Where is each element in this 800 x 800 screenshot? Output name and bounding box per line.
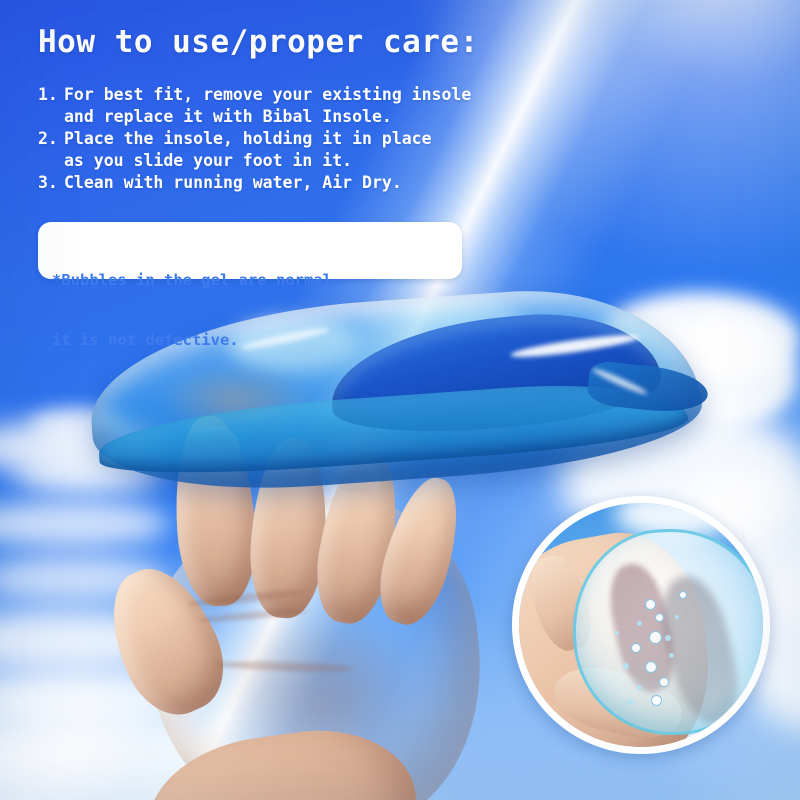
step-number: 3. bbox=[38, 172, 64, 194]
gel-bubble bbox=[655, 613, 664, 622]
gel-bubble bbox=[627, 699, 633, 705]
gel-bubble bbox=[637, 621, 642, 626]
instruction-list: 1. For best fit, remove your existing in… bbox=[38, 84, 678, 194]
bubble-detail-inset bbox=[512, 496, 770, 754]
gel-bubble bbox=[645, 599, 656, 610]
gel-bubble bbox=[679, 591, 687, 599]
step-line: and replace it with Bibal Insole. bbox=[64, 106, 678, 128]
gel-bubble bbox=[615, 631, 619, 635]
gel-bubble bbox=[649, 631, 662, 644]
list-item: 2. Place the insole, holding it in place… bbox=[38, 128, 678, 172]
infographic-canvas: How to use/proper care: 1. For best fit,… bbox=[0, 0, 800, 800]
gel-bubble bbox=[669, 653, 674, 658]
step-number: 2. bbox=[38, 128, 64, 172]
step-line: Clean with running water, Air Dry. bbox=[64, 172, 678, 194]
callout-line-2: it is not defective. bbox=[52, 330, 341, 350]
step-line: For best fit, remove your existing insol… bbox=[64, 84, 678, 106]
step-line: as you slide your foot in it. bbox=[64, 150, 678, 172]
page-title: How to use/proper care: bbox=[38, 24, 479, 60]
list-item: 1. For best fit, remove your existing in… bbox=[38, 84, 678, 128]
gel-bubble bbox=[659, 677, 669, 687]
gel-bubble bbox=[651, 695, 662, 706]
list-item: 3. Clean with running water, Air Dry. bbox=[38, 172, 678, 194]
gel-bubble bbox=[623, 663, 629, 669]
callout-text: *Bubbles in the gel are normal, it is no… bbox=[52, 230, 341, 390]
callout-line-1: *Bubbles in the gel are normal, bbox=[52, 270, 341, 290]
step-text: For best fit, remove your existing insol… bbox=[64, 84, 678, 128]
step-text: Place the insole, holding it in place as… bbox=[64, 128, 678, 172]
gel-bubble bbox=[675, 615, 679, 619]
step-number: 1. bbox=[38, 84, 64, 128]
gel-bubble bbox=[645, 661, 657, 673]
step-text: Clean with running water, Air Dry. bbox=[64, 172, 678, 194]
step-line: Place the insole, holding it in place bbox=[64, 128, 678, 150]
gel-bubble bbox=[631, 643, 641, 653]
gel-bubble bbox=[637, 685, 642, 690]
gel-bubble bbox=[665, 635, 671, 641]
callout-box: *Bubbles in the gel are normal, it is no… bbox=[38, 222, 462, 279]
